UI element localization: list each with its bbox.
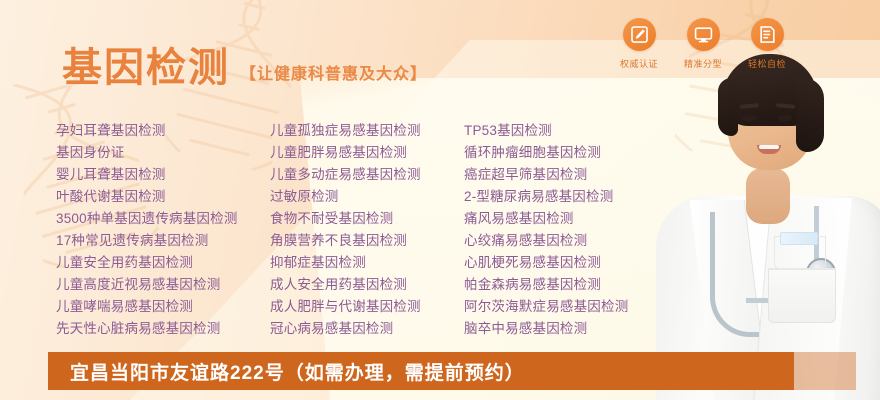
- feature-badges: 权威认证 精准分型 轻松自检: [616, 18, 790, 70]
- list-item[interactable]: 过敏原检测: [270, 186, 464, 208]
- list-item[interactable]: 17种常见遗传病基因检测: [56, 230, 270, 252]
- badge-label: 精准分型: [684, 57, 722, 70]
- list-item[interactable]: 儿童多动症易感基因检测: [270, 164, 464, 186]
- pencil-square-icon: [630, 25, 649, 44]
- doctor-name-badge: [780, 232, 818, 245]
- list-item[interactable]: 儿童安全用药基因检测: [56, 252, 270, 274]
- list-item[interactable]: 叶酸代谢基因检测: [56, 186, 270, 208]
- page-subtitle: 【让健康科普惠及大众】: [240, 60, 427, 88]
- doctor-eye-right: [778, 115, 792, 121]
- list-item[interactable]: 冠心病易感基因检测: [270, 318, 464, 340]
- monitor-icon: [694, 25, 713, 44]
- doctor-coat-pocket: [768, 268, 836, 323]
- list-item[interactable]: 帕金森病易感基因检测: [464, 274, 694, 296]
- test-column-3: TP53基因检测 循环肿瘤细胞基因检测 癌症超早筛基因检测 2-型糖尿病易感基因…: [464, 120, 694, 340]
- page-title: 基因检测: [62, 48, 230, 88]
- genetic-testing-poster: 基因检测 【让健康科普惠及大众】 权威认证 精准分型: [0, 0, 880, 400]
- badge-label: 权威认证: [620, 57, 658, 70]
- badge-precise-typing[interactable]: 精准分型: [680, 18, 726, 70]
- document-icon: [758, 25, 777, 44]
- test-item-columns: 孕妇耳聋基因检测 基因身份证 婴儿耳聋基因检测 叶酸代谢基因检测 3500种单基…: [56, 120, 694, 340]
- doctor-hair-left: [718, 78, 738, 136]
- list-item[interactable]: 循环肿瘤细胞基因检测: [464, 142, 694, 164]
- list-item[interactable]: 角膜营养不良基因检测: [270, 230, 464, 252]
- doctor-eye-left: [742, 115, 756, 121]
- list-item[interactable]: 婴儿耳聋基因检测: [56, 164, 270, 186]
- badge-circle: [751, 18, 784, 51]
- doctor-teeth: [759, 145, 779, 149]
- list-item[interactable]: 心肌梗死易感基因检测: [464, 252, 694, 274]
- list-item[interactable]: 儿童高度近视易感基因检测: [56, 274, 270, 296]
- address-text: 宜昌当阳市友谊路222号（如需办理，需提前预约）: [70, 358, 525, 385]
- doctor-hair-right: [796, 78, 824, 152]
- list-item[interactable]: 阿尔茨海默症易感基因检测: [464, 296, 694, 318]
- list-item[interactable]: 心绞痛易感基因检测: [464, 230, 694, 252]
- list-item[interactable]: TP53基因检测: [464, 120, 694, 142]
- test-column-1: 孕妇耳聋基因检测 基因身份证 婴儿耳聋基因检测 叶酸代谢基因检测 3500种单基…: [56, 120, 270, 340]
- address-bar: 宜昌当阳市友谊路222号（如需办理，需提前预约）: [48, 352, 794, 390]
- list-item[interactable]: 成人肥胖与代谢基因检测: [270, 296, 464, 318]
- list-item[interactable]: 食物不耐受基因检测: [270, 208, 464, 230]
- poster-heading: 基因检测 【让健康科普惠及大众】: [62, 48, 427, 88]
- list-item[interactable]: 抑郁症基因检测: [270, 252, 464, 274]
- list-item[interactable]: 痛风易感基因检测: [464, 208, 694, 230]
- list-item[interactable]: 孕妇耳聋基因检测: [56, 120, 270, 142]
- list-item[interactable]: 儿童孤独症易感基因检测: [270, 120, 464, 142]
- list-item[interactable]: 3500种单基因遗传病基因检测: [56, 208, 270, 230]
- list-item[interactable]: 癌症超早筛基因检测: [464, 164, 694, 186]
- list-item[interactable]: 先天性心脏病易感基因检测: [56, 318, 270, 340]
- test-column-2: 儿童孤独症易感基因检测 儿童肥胖易感基因检测 儿童多动症易感基因检测 过敏原检测…: [270, 120, 464, 340]
- badge-authority-certification[interactable]: 权威认证: [616, 18, 662, 70]
- list-item[interactable]: 儿童肥胖易感基因检测: [270, 142, 464, 164]
- list-item[interactable]: 成人安全用药基因检测: [270, 274, 464, 296]
- badge-easy-self-check[interactable]: 轻松自检: [744, 18, 790, 70]
- address-bar-overlap: [794, 352, 856, 390]
- badge-label: 轻松自检: [748, 57, 786, 70]
- list-item[interactable]: 基因身份证: [56, 142, 270, 164]
- list-item[interactable]: 脑卒中易感基因检测: [464, 318, 694, 340]
- list-item[interactable]: 儿童哮喘易感基因检测: [56, 296, 270, 318]
- list-item[interactable]: 2-型糖尿病易感基因检测: [464, 186, 694, 208]
- badge-circle: [687, 18, 720, 51]
- badge-circle: [623, 18, 656, 51]
